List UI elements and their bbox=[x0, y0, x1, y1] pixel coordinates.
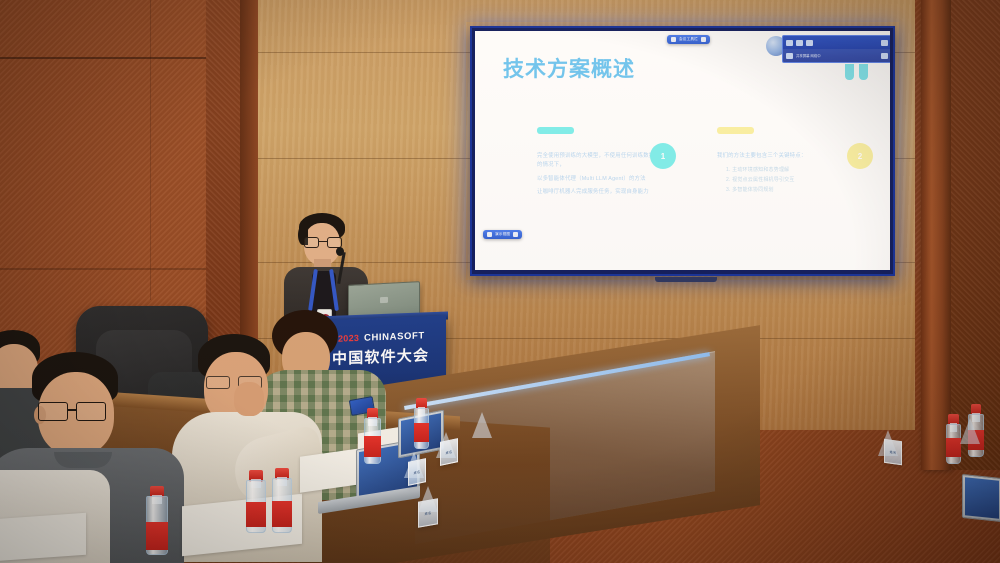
attendee-hand bbox=[234, 382, 264, 416]
paragraph: 让咖啡厅机器人完成服务任务，实现自身能力 bbox=[537, 188, 657, 197]
list-item: 2. 视觉点云属性相机导引交互 bbox=[726, 175, 837, 185]
water-bottle bbox=[946, 414, 961, 466]
presentation-display[interactable]: 技术方案概述 完全使用预训练的大模型，不使用任何训练数据的情况下， 以多智能体代… bbox=[470, 26, 895, 276]
glasses-icon bbox=[38, 402, 112, 422]
name-placard-card: 姓名 bbox=[884, 439, 902, 466]
window-bar-subtitle: 共享屏幕 网络中 bbox=[796, 53, 821, 58]
water-bottle bbox=[272, 468, 292, 540]
attendee-laptop[interactable] bbox=[962, 474, 1000, 522]
presentation-view-label: 演示视图 bbox=[495, 232, 510, 237]
maximize-icon[interactable] bbox=[796, 40, 803, 46]
list-item: 1. 主动环境感知和态势理解 bbox=[726, 165, 837, 175]
settings-icon[interactable] bbox=[881, 40, 888, 46]
window-control-bar[interactable]: 共享屏幕 网络中 bbox=[782, 35, 890, 63]
wall-seam bbox=[0, 268, 232, 270]
toolbar-icon bbox=[671, 37, 676, 42]
slide-column-2: 我们的方法主要包含三个关键特点： 1. 主动环境感知和态势理解 2. 视觉点云属… bbox=[717, 127, 837, 195]
slide-column-1-text: 完全使用预训练的大模型，不使用任何训练数据的情况下， 以多智能体代理（Multi… bbox=[537, 152, 657, 198]
view-icon bbox=[487, 232, 492, 237]
quote-mark-icon bbox=[859, 64, 868, 80]
name-placard bbox=[960, 418, 980, 444]
water-bottle bbox=[414, 398, 429, 452]
glasses-icon bbox=[304, 237, 342, 248]
presentation-view-badge[interactable]: 演示视图 bbox=[483, 230, 522, 239]
slide-column-1: 完全使用预训练的大模型，不使用任何训练数据的情况下， 以多智能体代理（Multi… bbox=[537, 127, 657, 202]
chevron-down-icon[interactable] bbox=[513, 232, 518, 237]
meeting-toolbar-label: 会议工具栏 bbox=[679, 37, 698, 42]
name-placard-card: 姓名 bbox=[418, 498, 438, 528]
wall-column-right bbox=[921, 0, 951, 470]
water-bottle bbox=[146, 486, 168, 563]
name-placard-card: 姓名 bbox=[440, 438, 458, 466]
quote-mark-icon bbox=[845, 64, 854, 80]
attendee-collar bbox=[54, 452, 112, 468]
slide-numbered-list: 1. 主动环境感知和态势理解 2. 视觉点云属性相机导引交互 3. 多智能体协同… bbox=[717, 165, 837, 195]
meeting-toolbar[interactable]: 会议工具栏 bbox=[667, 35, 710, 44]
wall-seam bbox=[0, 57, 240, 59]
close-icon[interactable] bbox=[806, 40, 813, 46]
paper-document bbox=[0, 513, 86, 561]
slide-title: 技术方案概述 bbox=[503, 53, 635, 83]
volume-icon[interactable] bbox=[881, 53, 888, 59]
conference-room-scene: 技术方案概述 完全使用预训练的大模型，不使用任何训练数据的情况下， 以多智能体代… bbox=[0, 0, 1000, 563]
placard-text: 姓名 bbox=[890, 449, 897, 455]
display-screen: 技术方案概述 完全使用预训练的大模型，不使用任何训练数据的情况下， 以多智能体代… bbox=[475, 31, 890, 270]
name-placard bbox=[472, 412, 492, 438]
placard-text: 姓名 bbox=[414, 469, 421, 475]
accent-bar-yellow bbox=[717, 127, 754, 134]
wall-seam bbox=[150, 0, 151, 300]
minimize-icon[interactable] bbox=[786, 40, 793, 46]
laptop-logo bbox=[380, 297, 388, 303]
paragraph: 完全使用预训练的大模型，不使用任何训练数据的情况下， bbox=[537, 152, 657, 171]
placard-text: 姓名 bbox=[446, 449, 453, 455]
slide-badge-1: 1 bbox=[650, 143, 676, 169]
list-item: 3. 多智能体协同规划 bbox=[726, 185, 837, 195]
accent-bar-cyan bbox=[537, 127, 574, 134]
water-bottle bbox=[364, 408, 381, 468]
slide-column-2-text: 我们的方法主要包含三个关键特点： bbox=[717, 152, 837, 161]
paragraph: 以多智能体代理（Multi LLM Agent）的方法 bbox=[537, 175, 657, 184]
side-wall-dark-wood bbox=[951, 0, 1000, 470]
slide-badge-2: 2 bbox=[847, 143, 873, 169]
placard-text: 姓名 bbox=[425, 510, 432, 516]
name-placard-card: 姓名 bbox=[408, 458, 426, 486]
share-icon[interactable] bbox=[701, 37, 706, 42]
mic-icon[interactable] bbox=[786, 53, 793, 59]
water-bottle bbox=[246, 470, 266, 540]
display-sensor-strip bbox=[655, 277, 717, 282]
paragraph: 我们的方法主要包含三个关键特点： bbox=[717, 152, 837, 161]
